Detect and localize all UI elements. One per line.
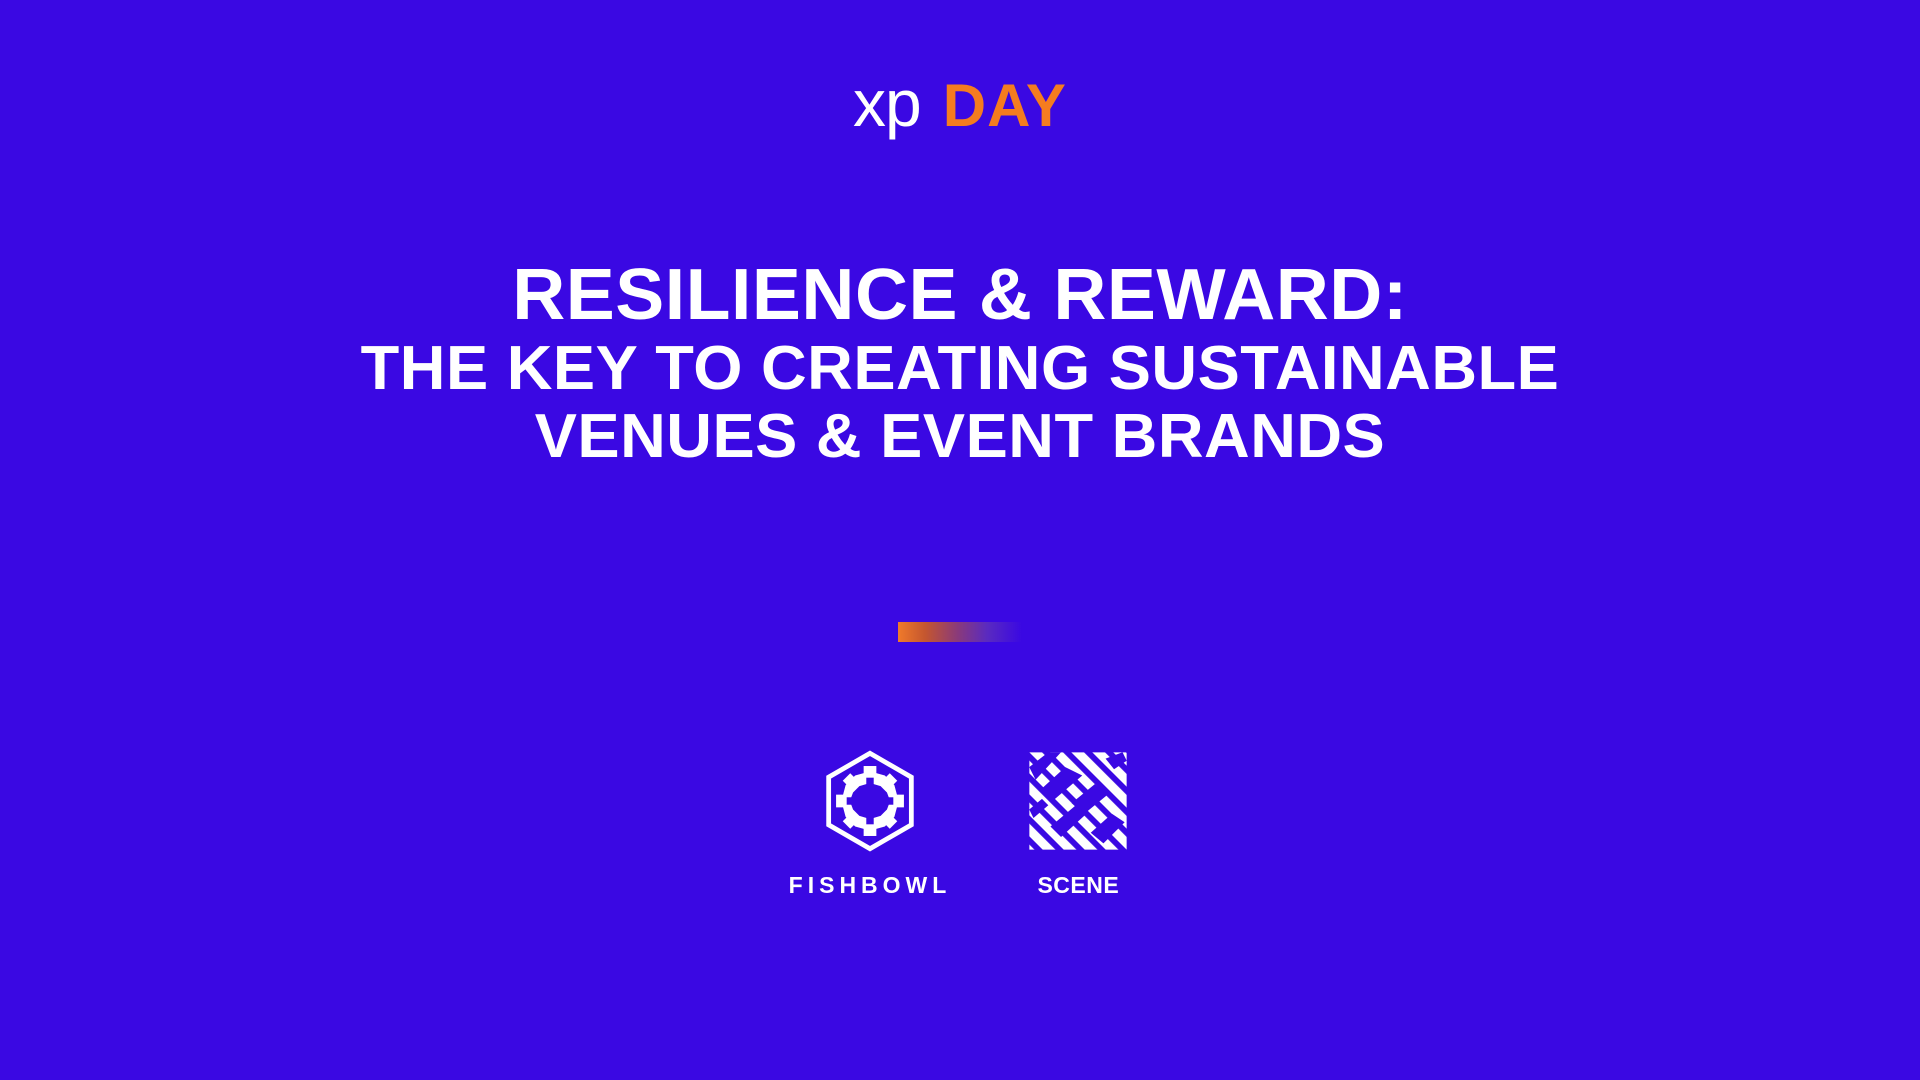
- title-slide: xpDAY RESILIENCE & REWARD: THE KEY TO CR…: [0, 0, 1920, 1080]
- accent-divider-bar: [898, 622, 1022, 642]
- partner-logo-fishbowl: FISHBOWL: [789, 748, 952, 897]
- partner-logo-scene: SCENE: [1025, 748, 1131, 897]
- hexagon-chip-icon: [817, 748, 923, 854]
- page-title: RESILIENCE & REWARD: THE KEY TO CREATING…: [0, 258, 1920, 470]
- partner-name-fishbowl: FISHBOWL: [789, 874, 952, 897]
- brand-day-wordmark: DAY: [943, 72, 1067, 139]
- partner-name-scene: SCENE: [1037, 874, 1119, 897]
- partner-logo-row: FISHBOWL: [0, 748, 1920, 897]
- diagonal-stripes-square-icon: [1025, 748, 1131, 854]
- headline-line-1: RESILIENCE & REWARD:: [0, 258, 1920, 333]
- brand-xp-wordmark: xp: [853, 66, 921, 140]
- headline-line-2: THE KEY TO CREATING SUSTAINABLE: [0, 337, 1920, 401]
- brand-lockup: xpDAY: [0, 70, 1920, 136]
- headline-line-3: VENUES & EVENT BRANDS: [0, 405, 1920, 469]
